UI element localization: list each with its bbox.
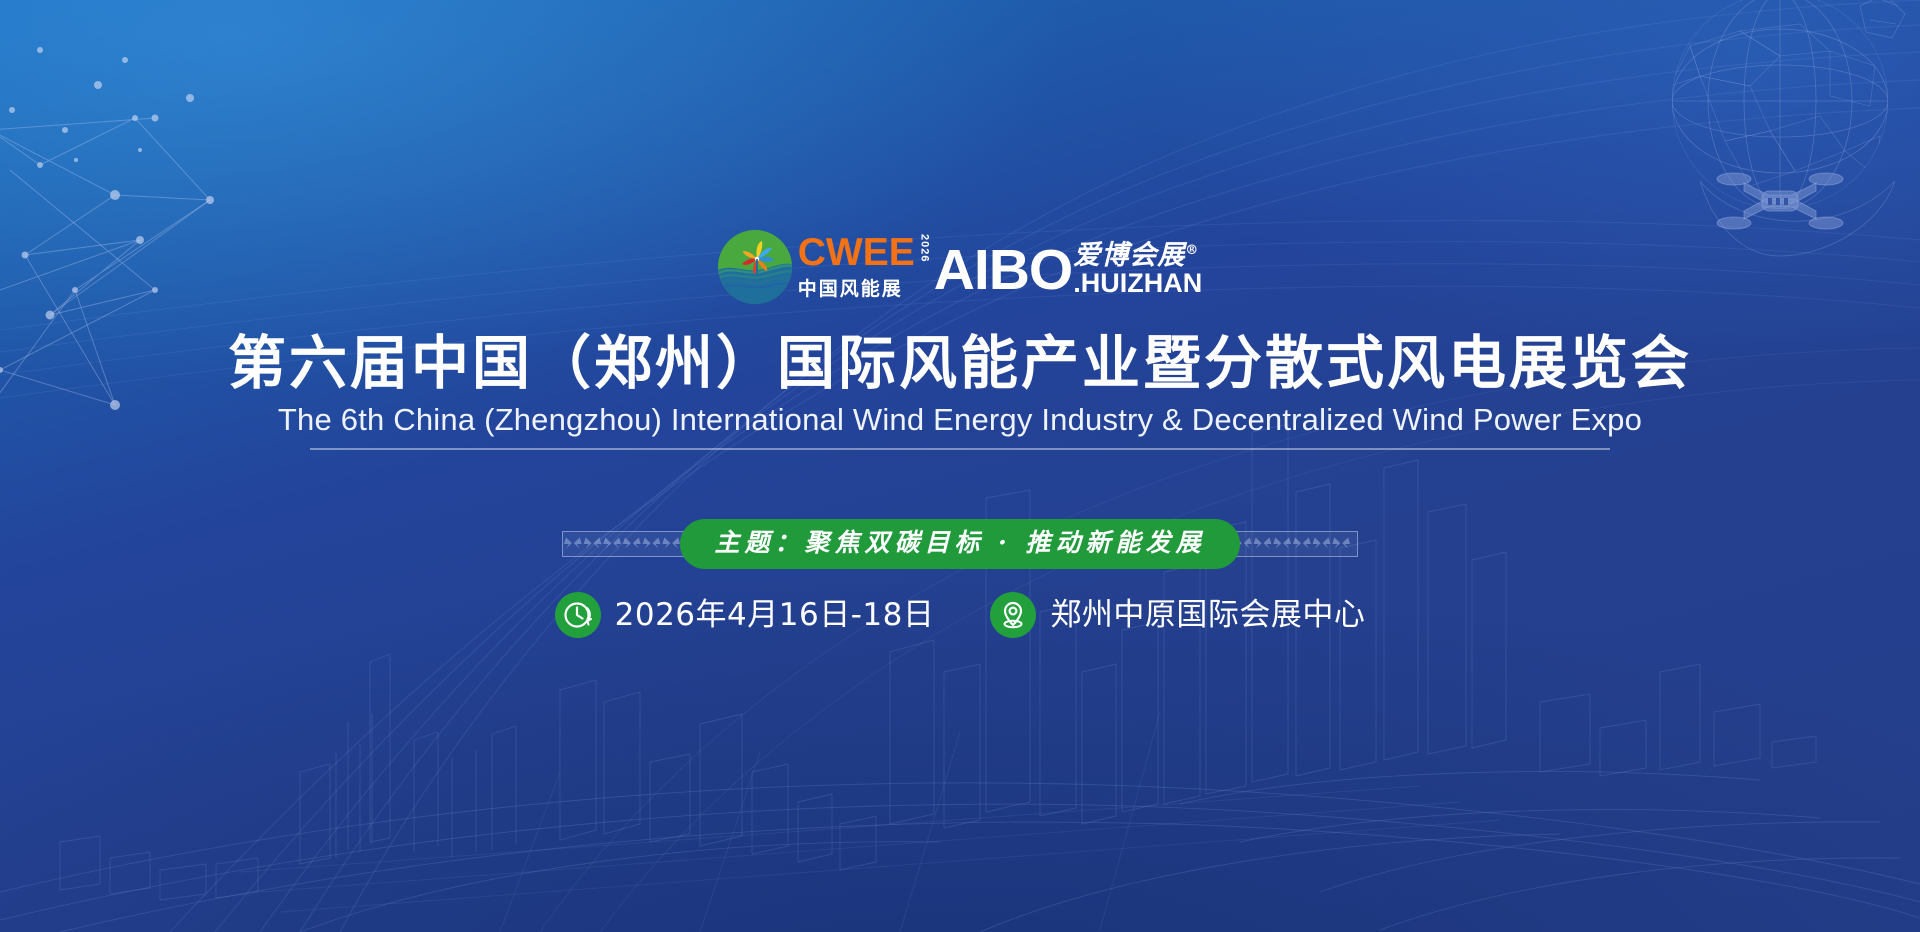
ornament-pattern-left — [562, 531, 688, 557]
theme-banner: 主题：聚焦双碳目标 · 推动新能发展 — [680, 519, 1239, 569]
aibo-pinyin: .HUIZHAN — [1073, 270, 1202, 297]
aibo-wordmark: AIBO 爱博会展® .HUIZHAN — [934, 237, 1203, 298]
expo-poster: CWEE 2026 中国风能展 AIBO 爱博会展® .HUIZHAN 第六届中… — [0, 0, 1920, 932]
ornament-pattern-right — [1232, 531, 1358, 557]
title-divider — [310, 448, 1610, 450]
cwee-year: 2026 — [919, 234, 930, 262]
theme-text: 主题：聚焦双碳目标 · 推动新能发展 — [714, 530, 1205, 556]
aibo-chinese-name: 爱博会展® — [1073, 237, 1199, 270]
location-text: 郑州中原国际会展中心 — [1050, 597, 1365, 633]
theme-row: 主题：聚焦双碳目标 · 推动新能发展 — [0, 519, 1920, 569]
logo-row: CWEE 2026 中国风能展 AIBO 爱博会展® .HUIZHAN — [0, 222, 1920, 312]
wireframe-city-skyline — [0, 372, 1920, 932]
cwee-circle-logo — [718, 230, 792, 304]
aibo-pinyin-text: HUIZHAN — [1081, 268, 1203, 298]
cwee-abbr: CWEE — [798, 233, 915, 273]
location-pin-icon — [990, 592, 1036, 638]
aibo-word: AIBO — [934, 242, 1073, 298]
clock-icon — [555, 592, 601, 638]
date-text: 2026年4月16日-18日 — [615, 597, 935, 633]
registered-mark: ® — [1185, 243, 1199, 258]
cwee-top-line: CWEE 2026 — [798, 233, 930, 273]
aibo-right-stack: 爱博会展® .HUIZHAN — [1073, 237, 1202, 297]
cwee-chinese-name: 中国风能展 — [798, 274, 903, 301]
aibo-dot: . — [1073, 268, 1081, 298]
page-title-en: The 6th China (Zhengzhou) International … — [0, 398, 1920, 442]
date-info: 2026年4月16日-18日 — [555, 592, 935, 638]
page-title-cn: 第六届中国（郑州）国际风能产业暨分散式风电展览会 — [0, 330, 1920, 396]
title-block: 第六届中国（郑州）国际风能产业暨分散式风电展览会 The 6th China (… — [0, 330, 1920, 450]
pinwheel-icon — [738, 238, 776, 276]
aibo-cn-text: 爱博会展 — [1073, 240, 1185, 271]
location-info: 郑州中原国际会展中心 — [990, 592, 1365, 638]
info-row: 2026年4月16日-18日 郑州中原国际会展中心 — [0, 592, 1920, 638]
cwee-wordmark: CWEE 2026 中国风能展 — [798, 233, 930, 301]
